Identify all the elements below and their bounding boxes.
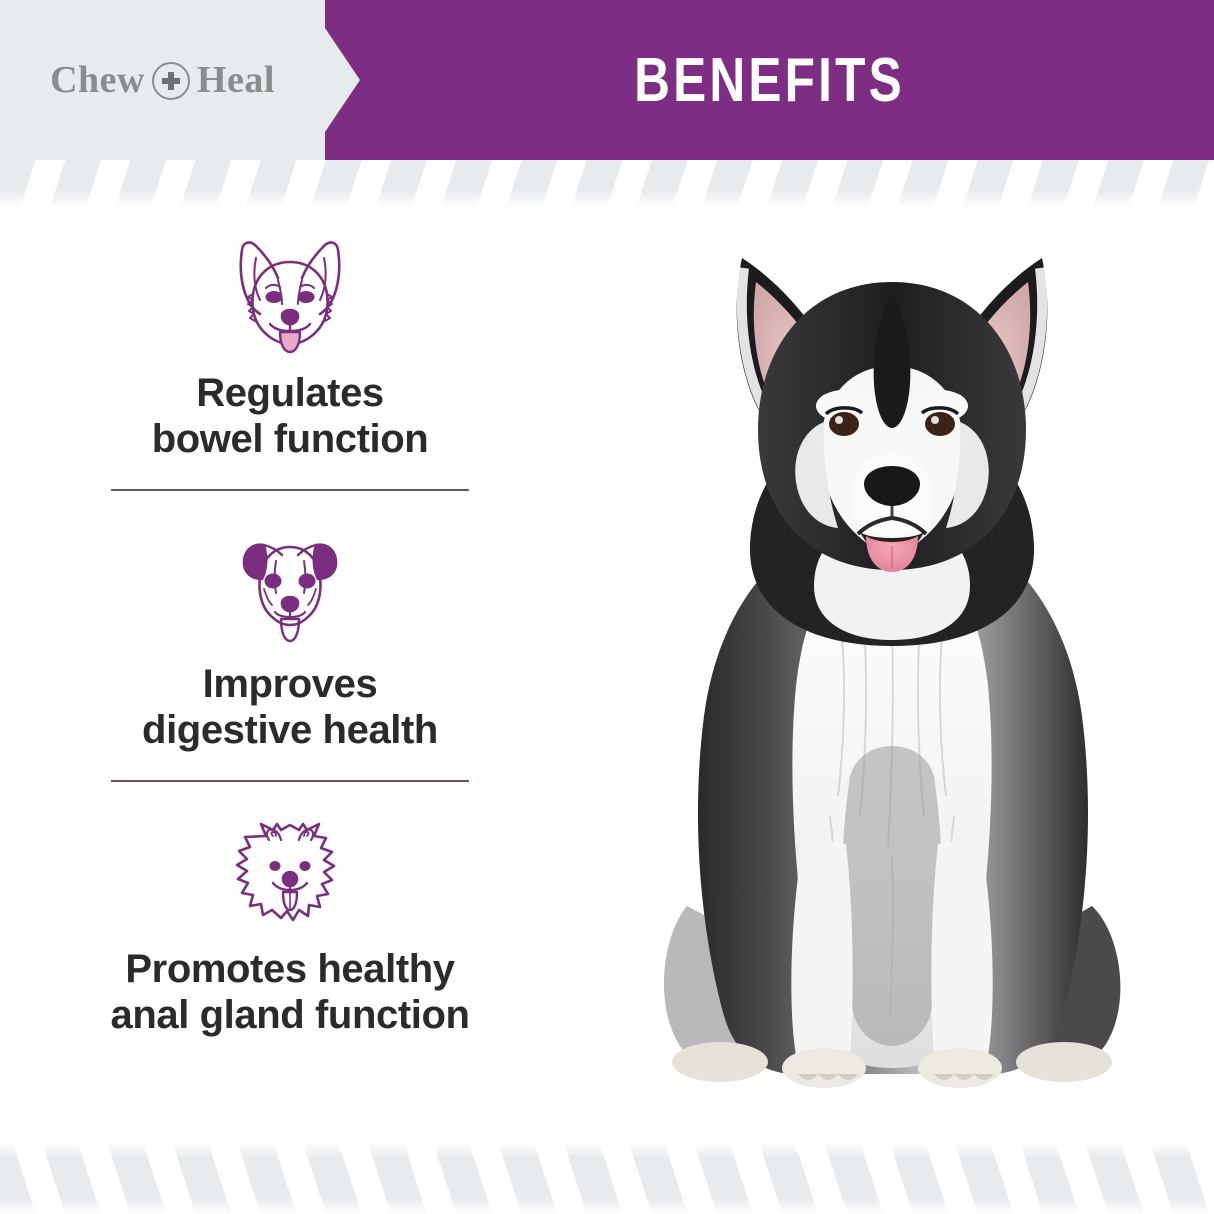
benefits-list: Regulates bowel function — [30, 218, 550, 1138]
benefits-infographic: Chew Heal BENEFITS — [0, 0, 1214, 1214]
benefit-text-2-line2: digestive health — [44, 707, 536, 753]
benefit-item-3: Promotes healthy anal gland function — [30, 814, 550, 1039]
header-bar: Chew Heal BENEFITS — [0, 0, 1214, 160]
benefit-text-1: Regulates bowel function — [30, 370, 550, 463]
benefit-text-3: Promotes healthy anal gland function — [30, 946, 550, 1039]
benefit-text-1-line2: bowel function — [44, 416, 536, 462]
terrier-dog-face-icon — [228, 521, 352, 649]
benefit-item-1: Regulates bowel function — [30, 218, 550, 491]
benefit-divider-1 — [111, 489, 469, 491]
stripe-band-top — [0, 160, 1214, 208]
benefit-text-3-line1: Promotes healthy — [44, 946, 536, 992]
benefit-item-2: Improves digestive health — [30, 521, 550, 782]
fluffy-dog-face-icon — [231, 814, 349, 934]
benefit-text-2: Improves digestive health — [30, 661, 550, 754]
page-title: BENEFITS — [414, 0, 1125, 160]
brand-name-chew: Chew — [50, 61, 145, 99]
main-content: Regulates bowel function — [0, 208, 1214, 1142]
stripe-band-bottom — [0, 1142, 1214, 1214]
brand-logo: Chew Heal — [0, 0, 325, 160]
benefit-text-1-line1: Regulates — [44, 370, 536, 416]
benefit-text-2-line1: Improves — [44, 661, 536, 707]
corgi-dog-face-icon — [220, 218, 360, 358]
benefit-text-3-line2: anal gland function — [44, 992, 536, 1038]
husky-dog-photo — [592, 216, 1192, 1116]
benefit-divider-2 — [111, 780, 469, 782]
plus-in-circle-icon — [152, 62, 190, 100]
husky-dog-illustration — [592, 216, 1192, 1116]
brand-name-heal: Heal — [197, 61, 275, 99]
